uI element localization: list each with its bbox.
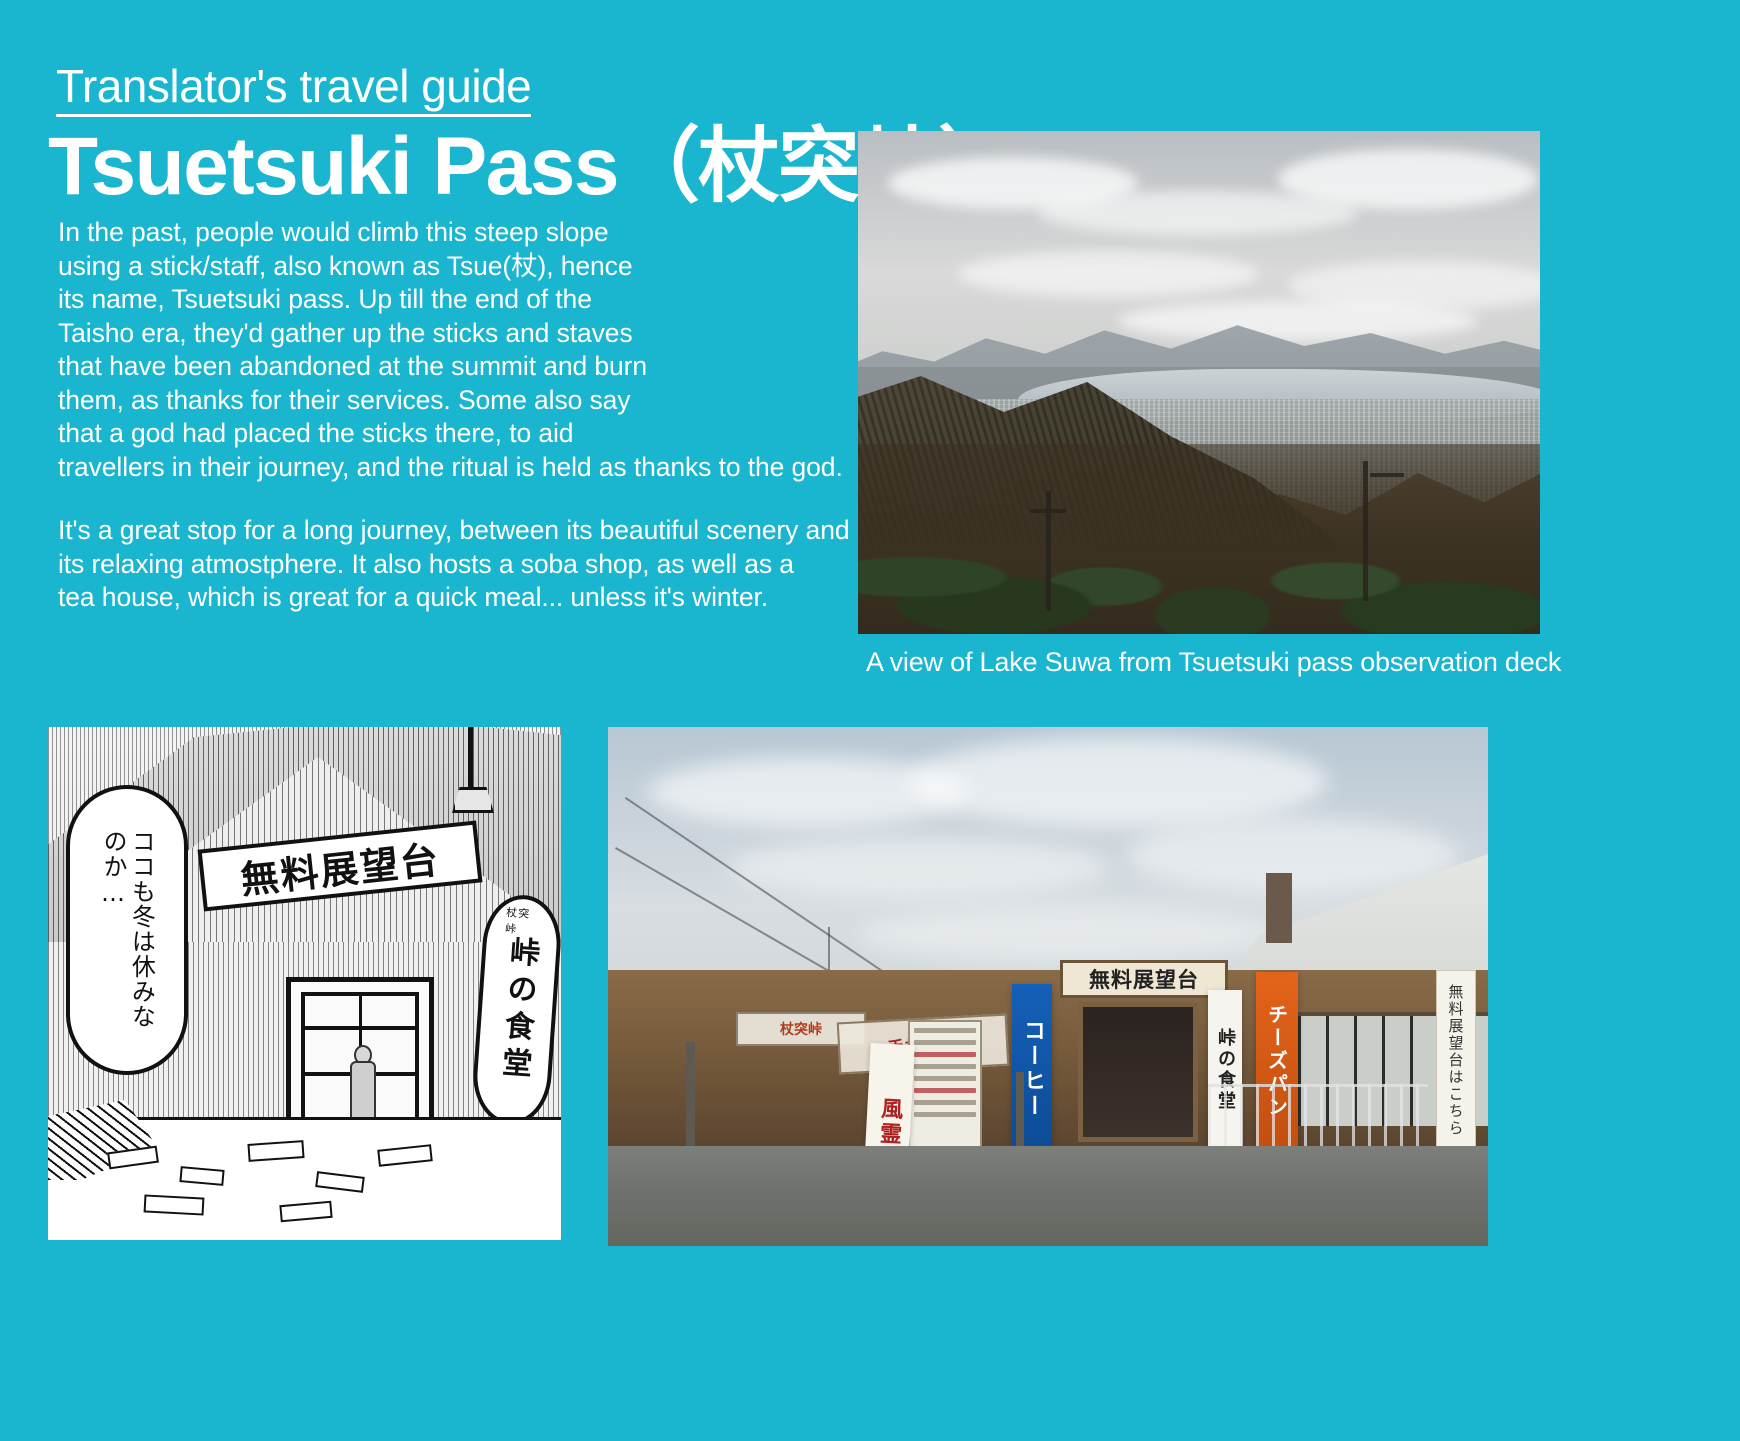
- entrance-doorway: [1078, 1002, 1198, 1142]
- rest-stop-photo: 無料展望台 杖突峠 手打そば コーヒー 峠の食堂 チーズパン 風霊庵 無料展望台…: [608, 727, 1488, 1246]
- menu-line: [914, 1112, 976, 1117]
- power-pylon-arm: [1030, 509, 1066, 513]
- paragraph-1-line: Taisho era, they'd gather up the sticks …: [58, 318, 633, 348]
- paragraph-1-line: travellers in their journey, and the rit…: [58, 452, 843, 482]
- menu-line: [914, 1052, 976, 1057]
- manga-snow-patch: [144, 1194, 205, 1215]
- cloud-shape: [728, 837, 1108, 897]
- paragraph-2-line: its relaxing atmostphere. It also hosts …: [58, 549, 794, 579]
- cloud-shape: [1128, 817, 1458, 892]
- power-pylon: [1363, 461, 1368, 601]
- manga-lamp-pole: [468, 727, 473, 797]
- observation-deck-direction-banner: 無料展望台はこちら: [1436, 970, 1476, 1150]
- foreground-trees: [858, 444, 1540, 634]
- manga-lantern-top-text: 杖突峠: [505, 904, 542, 938]
- manga-panel-image: 無料展望台 杖突峠 峠の食堂 ココも冬は休みなのか…: [48, 727, 561, 1240]
- parking-lot-ground: [608, 1146, 1488, 1246]
- menu-line: [914, 1100, 976, 1105]
- paragraph-1-line: In the past, people would climb this ste…: [58, 217, 609, 247]
- hero-photo-caption: A view of Lake Suwa from Tsuetsuki pass …: [866, 645, 1546, 679]
- menu-line: [914, 1088, 976, 1093]
- paragraph-1-line: its name, Tsuetsuki pass. Up till the en…: [58, 284, 592, 314]
- paragraph-2-line: It's a great stop for a long journey, be…: [58, 515, 849, 545]
- paragraph-1-line: that a god had placed the sticks there, …: [58, 418, 573, 448]
- chimney: [1266, 873, 1292, 943]
- cloud-shape: [1118, 301, 1478, 341]
- menu-line: [914, 1076, 976, 1081]
- slide-canvas: Translator's travel guide Tsuetsuki Pass…: [0, 0, 1740, 1441]
- page-title-latin: Tsuetsuki Pass: [48, 121, 618, 212]
- cloud-shape: [958, 251, 1258, 297]
- paragraph-2: It's a great stop for a long journey, be…: [58, 514, 858, 615]
- paragraph-1: In the past, people would climb this ste…: [58, 216, 858, 484]
- cloud-shape: [908, 737, 1328, 827]
- body-text-column: In the past, people would climb this ste…: [58, 216, 858, 615]
- kicker-heading: Translator's travel guide: [56, 62, 531, 117]
- cloud-shape: [1278, 149, 1538, 209]
- power-pylon-arm: [1370, 473, 1404, 477]
- paragraph-1-line: that have been abandoned at the summit a…: [58, 351, 647, 381]
- manga-speech-bubble: ココも冬は休みなのか…: [66, 785, 188, 1075]
- paragraph-1-line: them, as thanks for their services. Some…: [58, 385, 630, 415]
- manga-speech-bubble-text: ココも冬は休みなのか…: [99, 829, 156, 1039]
- menu-line: [914, 1064, 976, 1069]
- support-post: [686, 1042, 695, 1162]
- guard-fence: [1208, 1084, 1428, 1154]
- entrance-sign: 無料展望台: [1060, 960, 1228, 998]
- menu-line: [914, 1040, 976, 1045]
- menu-line: [914, 1028, 976, 1033]
- manga-lantern-text: 峠の食堂: [497, 935, 537, 1085]
- cloud-shape: [858, 907, 1278, 962]
- menu-board: [908, 1020, 982, 1150]
- hero-landscape-photo: [858, 131, 1540, 634]
- paragraph-2-line: tea house, which is great for a quick me…: [58, 582, 768, 612]
- paragraph-1-line: using a stick/staff, also known as Tsue(…: [58, 251, 632, 281]
